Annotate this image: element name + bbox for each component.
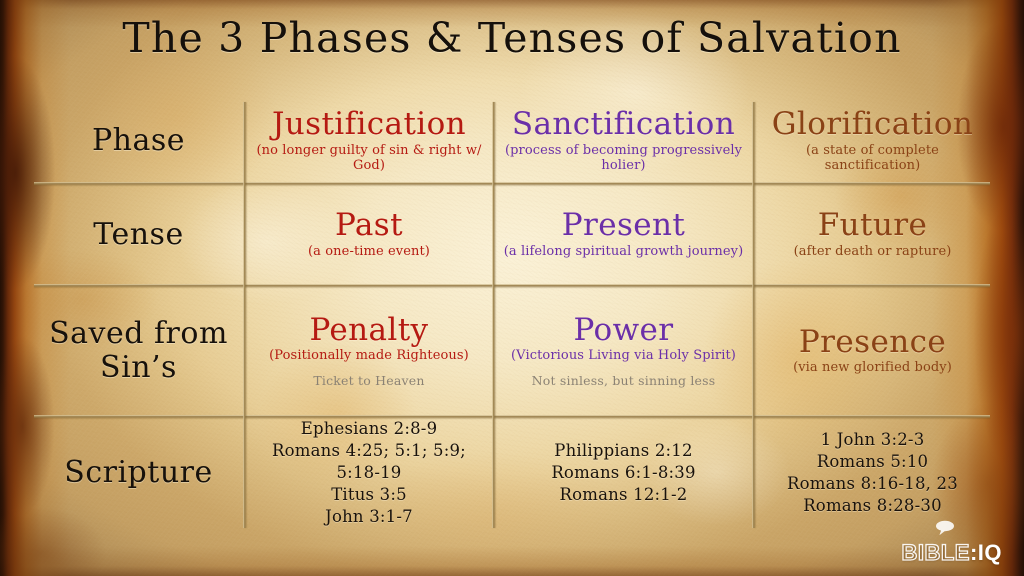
brand-logo-text: BIBLE :IQ (901, 542, 1002, 564)
cell-heading: Presence (799, 326, 946, 359)
row-label-tense: Tense (34, 185, 243, 284)
cell-heading: Past (335, 209, 403, 242)
scripture-ref: Romans 6:1-8:39 (551, 462, 695, 484)
cell-note: Not sinless, but sinning less (532, 373, 716, 388)
cell-heading: Future (818, 209, 927, 242)
scripture-ref: Romans 4:25; 5:1; 5:9; 5:18-19 (252, 440, 486, 484)
cell-scripture-justification: Ephesians 2:8-9 Romans 4:25; 5:1; 5:9; 5… (246, 418, 492, 528)
scripture-ref: John 3:1-7 (325, 506, 413, 528)
cell-subtext: (via new glorified body) (793, 361, 952, 376)
cell-tense-present: Present (a lifelong spiritual growth jou… (495, 185, 752, 284)
cell-heading: Present (562, 209, 686, 242)
cell-heading: Power (574, 314, 674, 347)
cell-phase-glorification: Glorification (a state of complete sanct… (755, 100, 990, 182)
cell-tense-future: Future (after death or rapture) (755, 185, 990, 284)
scripture-ref: Romans 12:1-2 (560, 484, 688, 506)
cell-phase-justification: Justification (no longer guilty of sin &… (246, 100, 492, 182)
scripture-ref: Romans 8:16-18, 23 (787, 473, 958, 495)
speech-bubble-icon (934, 520, 956, 540)
cell-heading: Justification (272, 108, 466, 141)
cell-heading: Sanctification (512, 108, 735, 141)
cell-scripture-sanctification: Philippians 2:12 Romans 6:1-8:39 Romans … (495, 418, 752, 528)
cell-heading: Glorification (772, 108, 974, 141)
scripture-ref: Ephesians 2:8-9 (301, 418, 438, 440)
cell-subtext: (Positionally made Righteous) (269, 349, 469, 364)
cell-phase-sanctification: Sanctification (process of becoming prog… (495, 100, 752, 182)
row-label-saved-from-sins-line1: Saved from (49, 317, 228, 351)
slide-canvas: The 3 Phases & Tenses of Salvation Phase… (0, 0, 1024, 576)
cell-saved-presence: Presence (via new glorified body) (755, 287, 990, 415)
row-label-phase: Phase (34, 100, 243, 182)
cell-heading: Penalty (310, 314, 429, 347)
scripture-ref: Titus 3:5 (331, 484, 407, 506)
scripture-ref: Philippians 2:12 (554, 440, 692, 462)
cell-saved-penalty: Penalty (Positionally made Righteous) Ti… (246, 287, 492, 415)
cell-subtext: (a state of complete sanctification) (761, 144, 984, 174)
cell-scripture-glorification: 1 John 3:2-3 Romans 5:10 Romans 8:16-18,… (755, 418, 990, 528)
row-label-scripture: Scripture (34, 418, 243, 528)
cell-note: Ticket to Heaven (313, 373, 424, 388)
brand-logo[interactable]: BIBLE :IQ (901, 520, 1002, 564)
salvation-table: Phase Justification (no longer guilty of… (34, 100, 990, 530)
scripture-ref: 1 John 3:2-3 (821, 429, 925, 451)
cell-subtext: (a lifelong spiritual growth journey) (504, 245, 744, 260)
row-label-phase-text: Phase (92, 124, 185, 158)
scripture-ref: Romans 5:10 (817, 451, 928, 473)
row-label-tense-text: Tense (93, 218, 183, 252)
cell-subtext: (Victorious Living via Holy Spirit) (511, 349, 736, 364)
row-label-saved-from-sins: Saved from Sin’s (34, 287, 243, 415)
cell-subtext: (no longer guilty of sin & right w/ God) (252, 144, 486, 174)
cell-tense-past: Past (a one-time event) (246, 185, 492, 284)
brand-logo-iq: :IQ (970, 542, 1002, 564)
brand-logo-bible: BIBLE (901, 542, 970, 564)
cell-subtext: (after death or rapture) (794, 245, 952, 260)
scripture-ref: Romans 8:28-30 (803, 495, 942, 517)
cell-saved-power: Power (Victorious Living via Holy Spirit… (495, 287, 752, 415)
cell-subtext: (process of becoming progressively holie… (501, 144, 746, 174)
cell-subtext: (a one-time event) (308, 245, 430, 260)
page-title: The 3 Phases & Tenses of Salvation (0, 16, 1024, 61)
row-label-saved-from-sins-line2: Sin’s (100, 351, 177, 385)
row-label-scripture-text: Scripture (64, 456, 212, 490)
